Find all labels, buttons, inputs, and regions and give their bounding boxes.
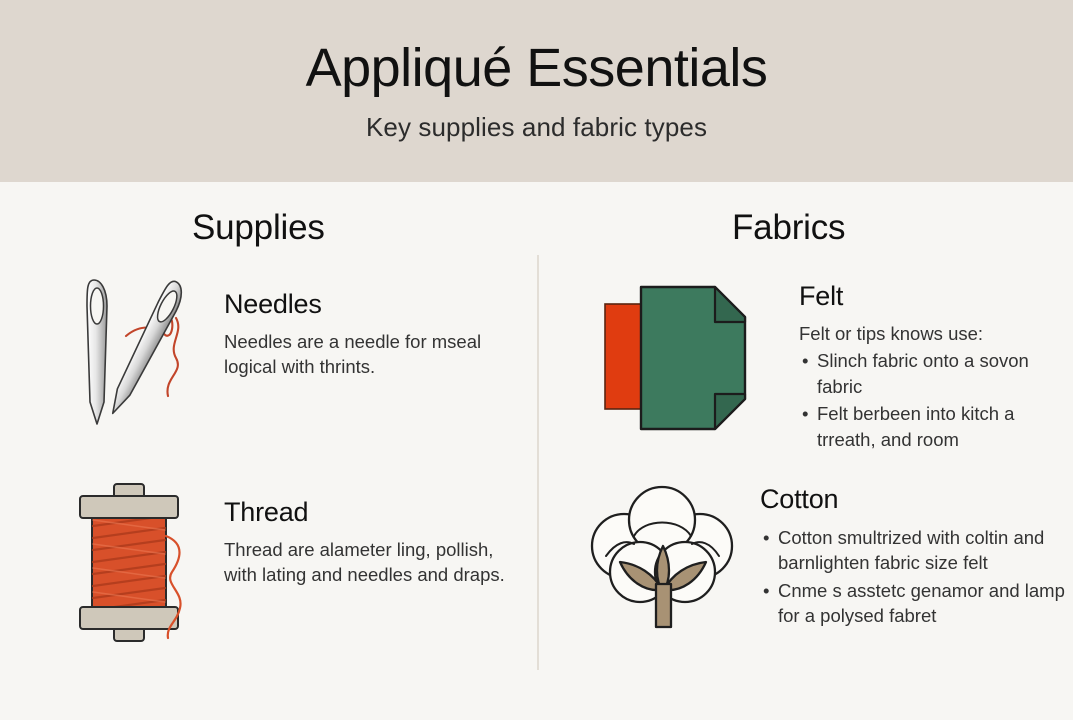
list-item: Felt berbeen into kitch a trreath, and r… [817, 401, 1067, 452]
entry-bullets-cotton: Cotton smultrized with coltin and barnli… [760, 525, 1067, 629]
thread-spool-icon [62, 480, 197, 645]
entry-title-felt: Felt [799, 282, 1067, 312]
entry-bullets-felt: Slinch fabric onto a sovon fabric Felt b… [799, 348, 1067, 452]
header-band: Appliqué Essentials Key supplies and fab… [0, 0, 1073, 182]
felt-sheets-icon [597, 274, 767, 439]
column-heading-supplies: Supplies [192, 208, 325, 248]
entry-lead-felt: Felt or tips knows use: [799, 321, 1067, 347]
entry-title-cotton: Cotton [760, 485, 1067, 515]
entry-title-thread: Thread [224, 498, 522, 528]
content-columns: Supplies [0, 182, 1073, 720]
cotton-boll-icon [582, 480, 744, 635]
entry-title-needles: Needles [224, 290, 522, 320]
entry-body-thread: Thread are alameter ling, pollish, with … [224, 537, 522, 588]
infographic-poster: Appliqué Essentials Key supplies and fab… [0, 0, 1073, 720]
entry-text-thread: Thread Thread are alameter ling, pollish… [224, 480, 522, 588]
sewing-needles-icon [72, 274, 202, 434]
column-supplies: Supplies [0, 182, 537, 720]
page-title: Appliqué Essentials [306, 39, 768, 98]
list-item: Cnme s asstetc genamor and lamp for a po… [778, 578, 1067, 629]
entry-text-cotton: Cotton Cotton smultrized with coltin and… [760, 480, 1067, 629]
entry-text-felt: Felt Felt or tips knows use: Slinch fabr… [799, 274, 1067, 452]
column-fabrics: Fabrics Felt [537, 182, 1073, 720]
page-subtitle: Key supplies and fabric types [366, 112, 707, 143]
entry-thread: Thread Thread are alameter ling, pollish… [62, 480, 522, 645]
list-item: Cotton smultrized with coltin and barnli… [778, 525, 1067, 576]
column-heading-fabrics: Fabrics [732, 208, 845, 248]
entry-needles: Needles Needles are a needle for mseal l… [72, 274, 522, 434]
list-item: Slinch fabric onto a sovon fabric [817, 348, 1067, 399]
entry-text-needles: Needles Needles are a needle for mseal l… [224, 274, 522, 380]
entry-felt: Felt Felt or tips knows use: Slinch fabr… [597, 274, 1067, 452]
entry-cotton: Cotton Cotton smultrized with coltin and… [582, 480, 1067, 635]
entry-body-needles: Needles are a needle for mseal logical w… [224, 329, 522, 380]
